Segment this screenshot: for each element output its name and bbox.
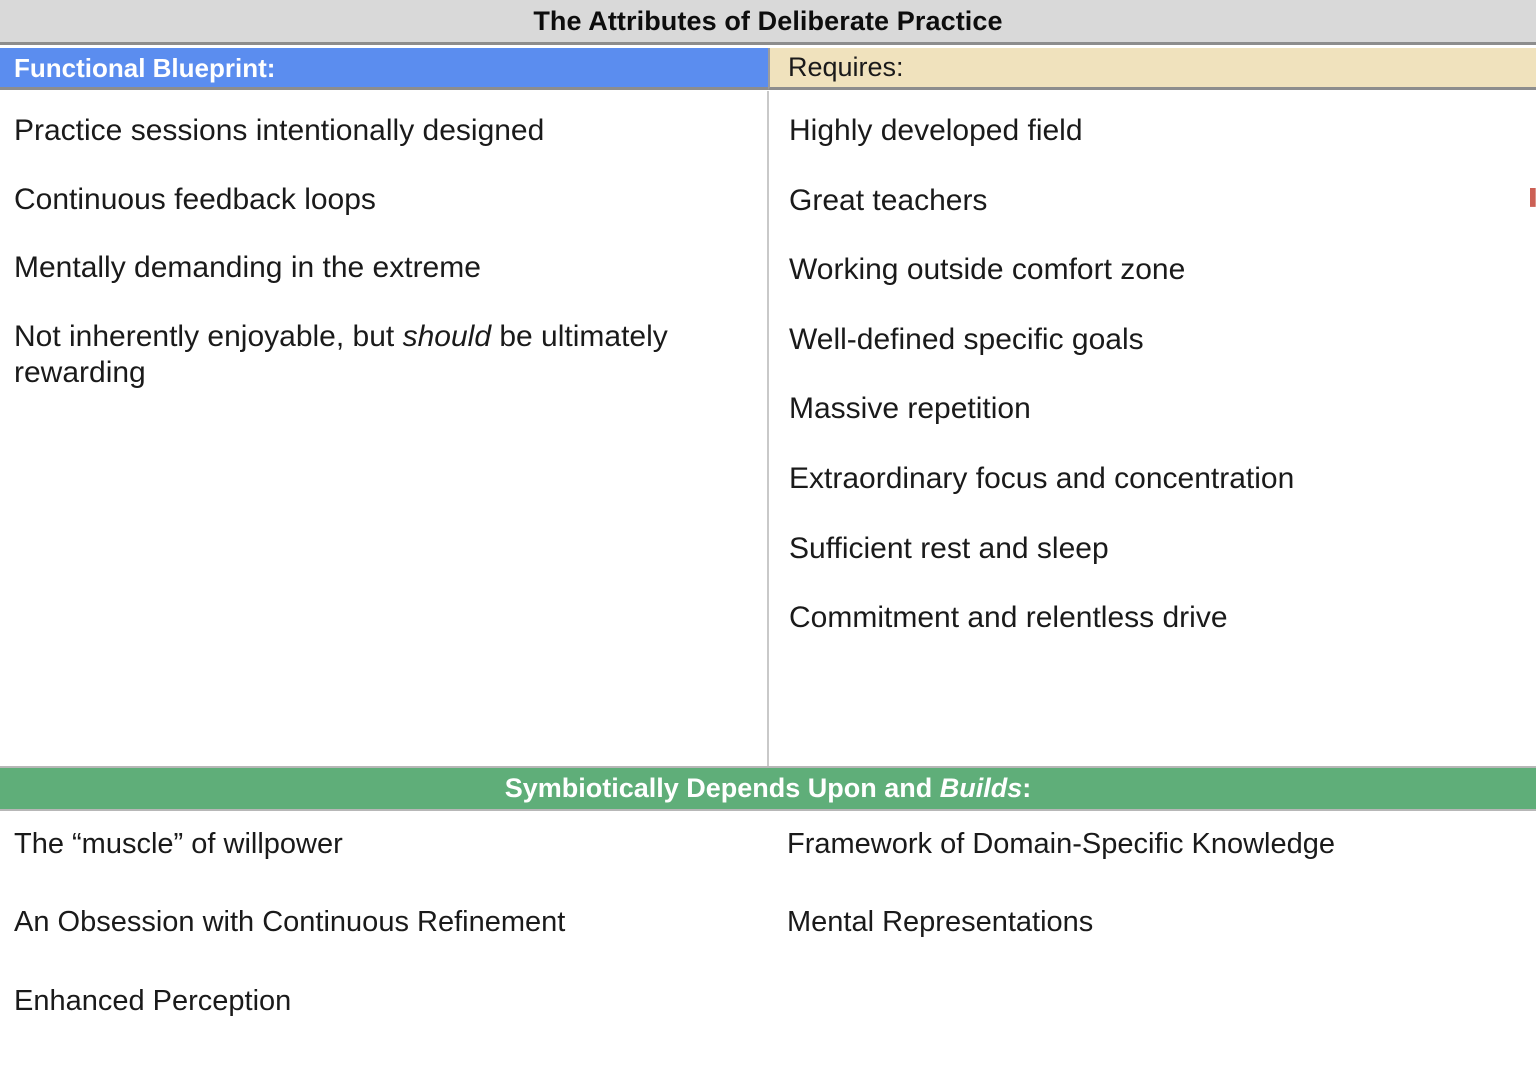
lower-content-area: The “muscle” of willpower An Obsession w… — [0, 811, 1536, 1069]
symbiotic-banner-post: : — [1022, 773, 1031, 803]
list-item: Not inherently enjoyable, but should be … — [14, 319, 751, 392]
symbiotic-banner-label: Symbiotically Depends Upon and Builds: — [505, 775, 1032, 802]
list-item: Well-defined specific goals — [789, 322, 1520, 359]
list-item: Extraordinary focus and concentration — [789, 461, 1520, 498]
slide-canvas: The Attributes of Deliberate Practice Fu… — [0, 0, 1536, 1069]
functional-blueprint-header-label: Functional Blueprint: — [14, 55, 275, 81]
builds-left-list: The “muscle” of willpower An Obsession w… — [0, 811, 767, 1069]
list-item: The “muscle” of willpower — [14, 827, 751, 862]
column-header-row: Functional Blueprint: Requires: — [0, 48, 1536, 90]
list-item: Continuous feedback loops — [14, 182, 751, 219]
upper-content-area: Practice sessions intentionally designed… — [0, 91, 1536, 766]
requires-list: Highly developed field Great teachers Wo… — [769, 91, 1536, 766]
symbiotic-banner: Symbiotically Depends Upon and Builds: — [0, 766, 1536, 811]
list-item: Highly developed field — [789, 113, 1520, 150]
list-item: Great teachers — [789, 183, 1520, 220]
list-item: Mentally demanding in the extreme — [14, 250, 751, 287]
list-item: Working outside comfort zone — [789, 252, 1520, 289]
list-item-text-pre: Not inherently enjoyable, but — [14, 320, 403, 353]
list-item: Practice sessions intentionally designed — [14, 113, 751, 150]
symbiotic-banner-emphasis: Builds — [940, 773, 1023, 803]
functional-blueprint-list: Practice sessions intentionally designed… — [0, 91, 767, 766]
slide-title-band: The Attributes of Deliberate Practice — [0, 0, 1536, 45]
requires-header: Requires: — [768, 48, 1536, 90]
list-item: Massive repetition — [789, 391, 1520, 428]
list-item: Mental Representations — [787, 905, 1520, 940]
edge-red-mark: ▌ — [1530, 188, 1536, 208]
list-item: Enhanced Perception — [14, 984, 751, 1019]
list-item-text-emphasis: should — [403, 320, 491, 353]
symbiotic-banner-pre: Symbiotically Depends Upon and — [505, 773, 940, 803]
page-title: The Attributes of Deliberate Practice — [533, 8, 1002, 35]
list-item: Commitment and relentless drive — [789, 600, 1520, 637]
requires-header-label: Requires: — [788, 54, 904, 81]
list-item: An Obsession with Continuous Refinement — [14, 905, 751, 940]
list-item: Sufficient rest and sleep — [789, 531, 1520, 568]
functional-blueprint-header: Functional Blueprint: — [0, 48, 768, 90]
list-item: Framework of Domain-Specific Knowledge — [787, 827, 1520, 862]
builds-right-list: Framework of Domain-Specific Knowledge M… — [769, 811, 1536, 1069]
